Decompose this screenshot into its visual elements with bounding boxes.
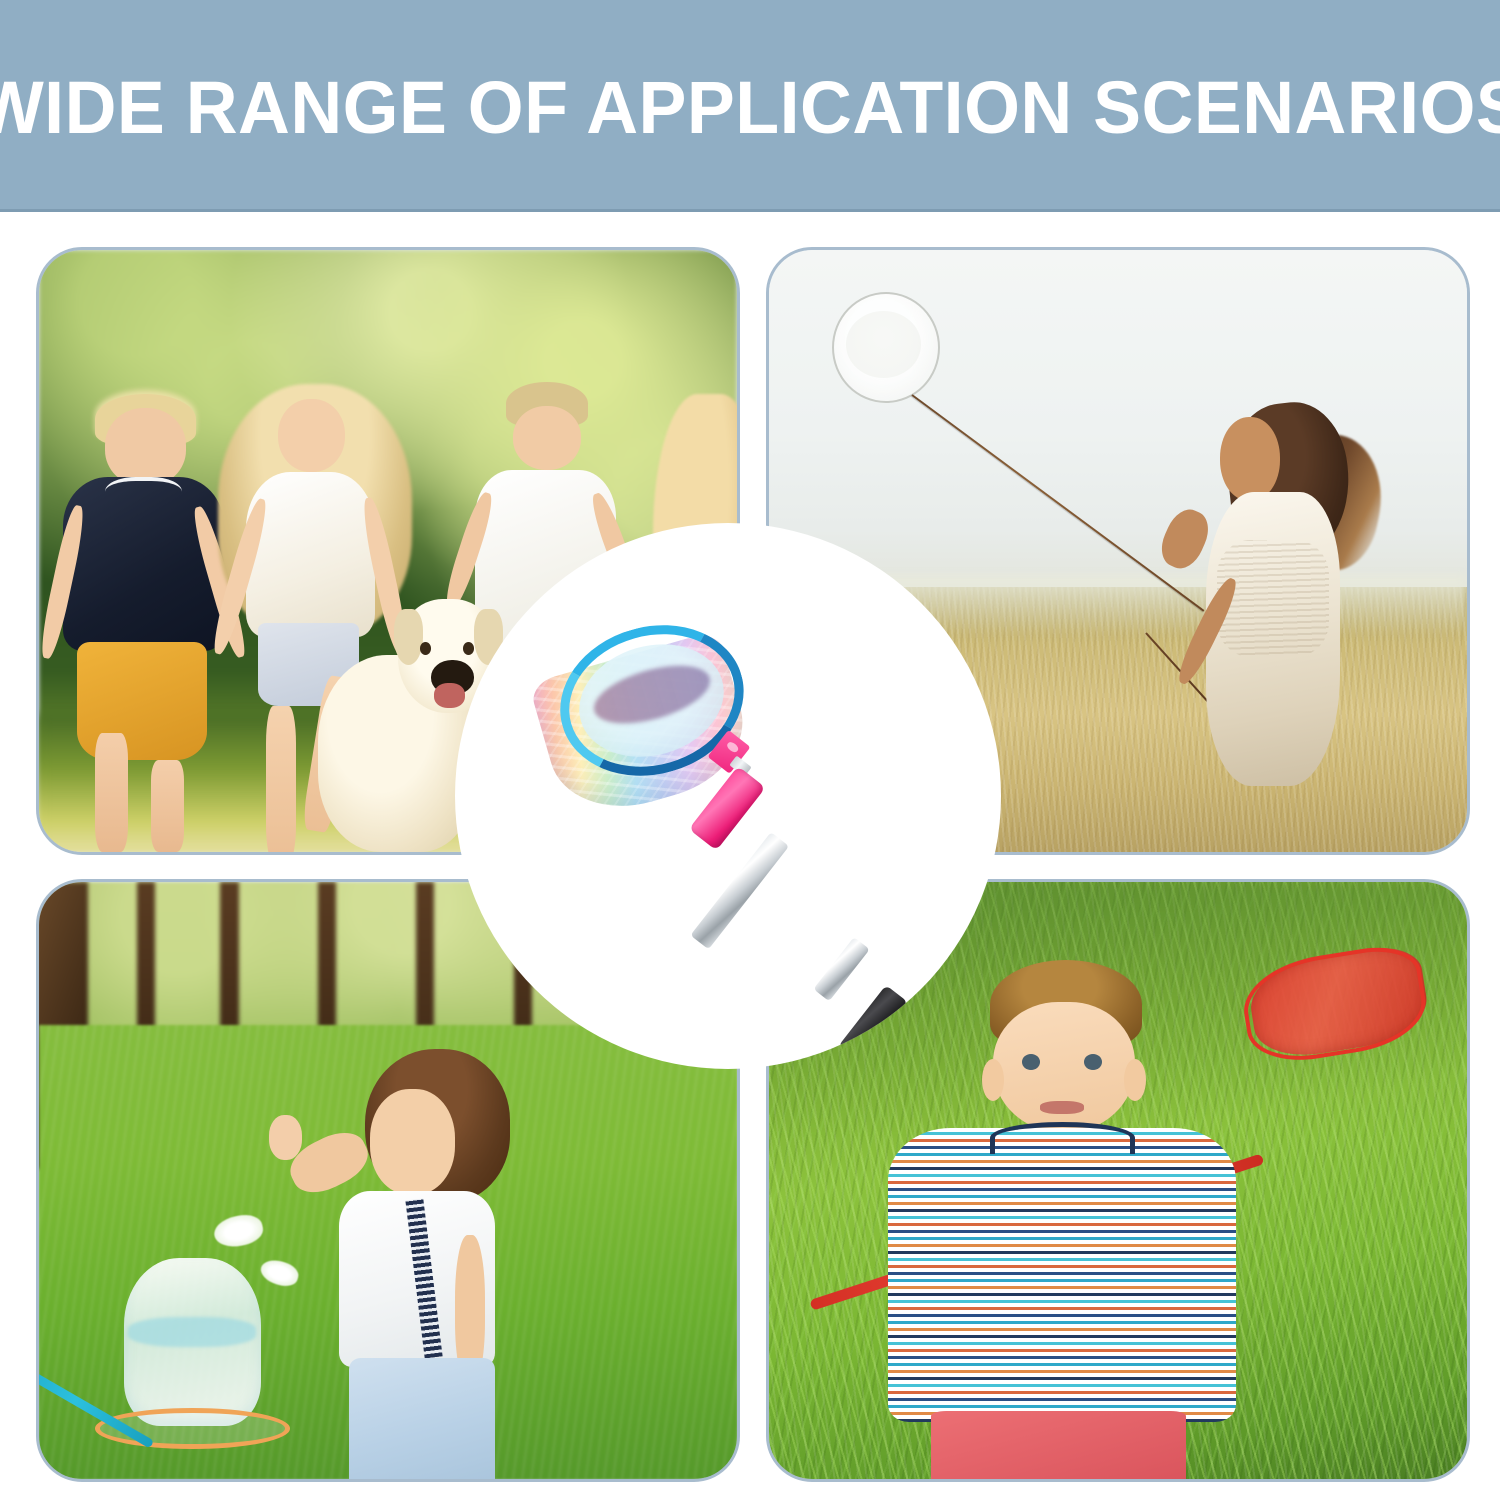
head (1220, 417, 1280, 502)
leg-right (151, 760, 184, 852)
leg-left (95, 733, 128, 852)
neckline-navy (990, 1122, 1135, 1154)
head (370, 1089, 455, 1195)
child-boy-suspenders (304, 1049, 555, 1479)
light-blue-jeans (349, 1358, 495, 1479)
product-inset-circle (455, 523, 1001, 1069)
header-banner: WIDE RANGE OF APPLICATION SCENARIOS (0, 0, 1500, 212)
child-girl-white-dress (1160, 394, 1390, 839)
ear-right (1124, 1059, 1146, 1101)
product-feature-image: WIDE RANGE OF APPLICATION SCENARIOS (0, 0, 1500, 1493)
dog-eye-left (420, 642, 431, 655)
eye-right (1084, 1054, 1102, 1070)
mouth (1040, 1101, 1084, 1114)
leg-left (266, 706, 296, 852)
arm-extended (1155, 504, 1216, 575)
page-title: WIDE RANGE OF APPLICATION SCENARIOS (0, 65, 1500, 145)
net-hoop-white (832, 292, 940, 403)
white-butterfly-net (81, 1258, 318, 1479)
head (105, 408, 185, 486)
steel-pole-segment-2 (813, 937, 869, 1001)
telescopic-butterfly-net (455, 523, 1001, 1069)
head (513, 406, 581, 470)
collar (105, 477, 182, 514)
steel-pole-segment-1 (690, 832, 789, 949)
red-shorts (931, 1411, 1185, 1479)
net-bag-band (128, 1317, 256, 1346)
head (278, 399, 345, 472)
black-foam-handle (839, 985, 909, 1064)
white-sundress (1206, 492, 1340, 786)
striped-tshirt (888, 1128, 1236, 1422)
child-boy-navy-polo (60, 394, 235, 852)
hand-raised (269, 1115, 302, 1159)
